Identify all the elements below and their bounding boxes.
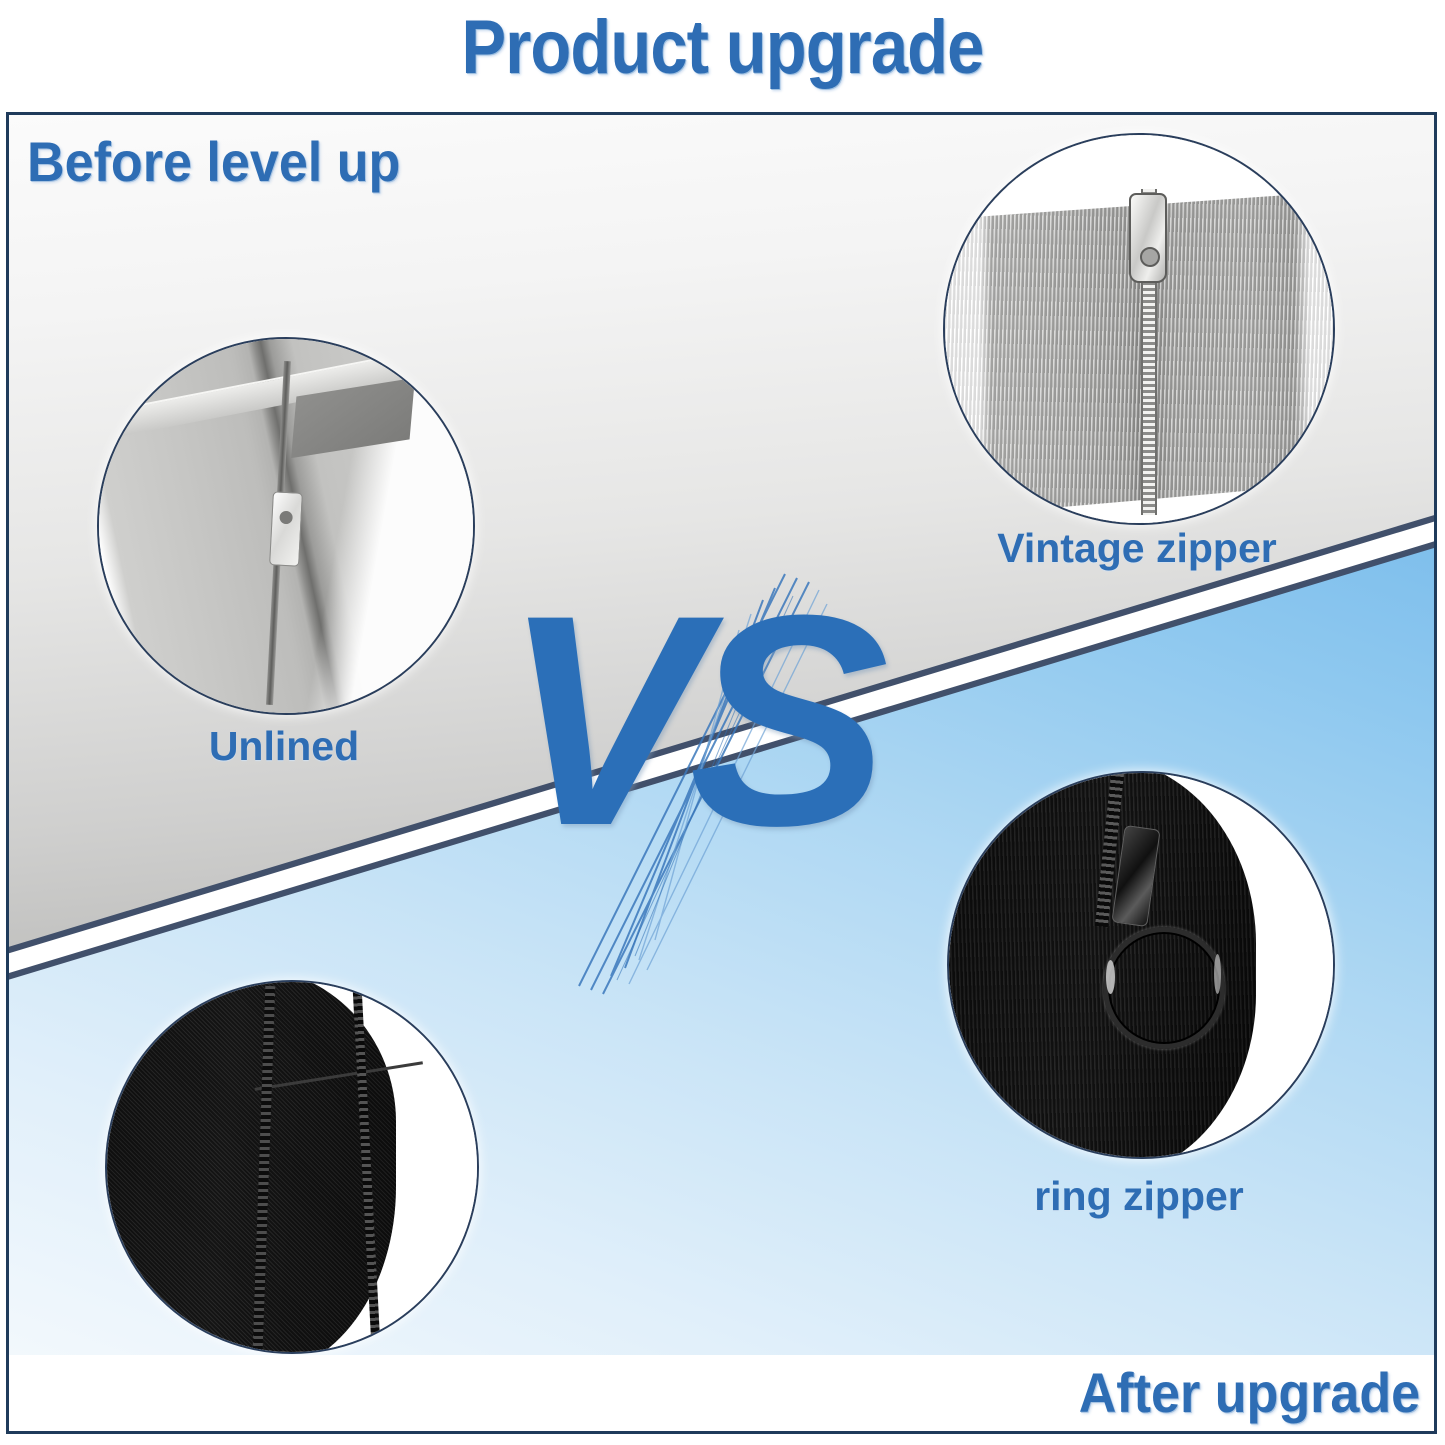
after-label-band: After upgrade (9, 1355, 1434, 1431)
vintage-zipper-photo-bubble (943, 133, 1335, 525)
product-upgrade-infographic: Product upgrade Before level up Unlined (0, 0, 1445, 1445)
fabric-bottom-crop (943, 481, 1335, 525)
after-section-label: After upgrade (1079, 1360, 1420, 1425)
comparison-panel: Before level up Unlined Vintage zipper (6, 112, 1437, 1434)
ring-zipper-photo-bubble (947, 771, 1335, 1159)
page-title: Product upgrade (87, 4, 1359, 91)
ring-zipper-image (949, 773, 1333, 1157)
lined-photo-bubble (105, 980, 479, 1354)
zipper-pull-icon (1129, 193, 1167, 283)
unlined-photo-bubble (97, 337, 475, 715)
ring-zipper-caption: ring zipper (927, 1173, 1351, 1220)
lined-fabric-image (107, 982, 477, 1352)
unlined-garment-image (99, 339, 473, 713)
title-band: Product upgrade (0, 0, 1445, 110)
vintage-zipper-caption: Vintage zipper (925, 525, 1349, 572)
zipper-slider-icon (269, 492, 303, 567)
before-section-label: Before level up (27, 129, 400, 194)
vintage-zipper-image (945, 135, 1333, 523)
unlined-caption: Unlined (97, 723, 471, 770)
o-ring-pull-icon (1103, 927, 1225, 1049)
